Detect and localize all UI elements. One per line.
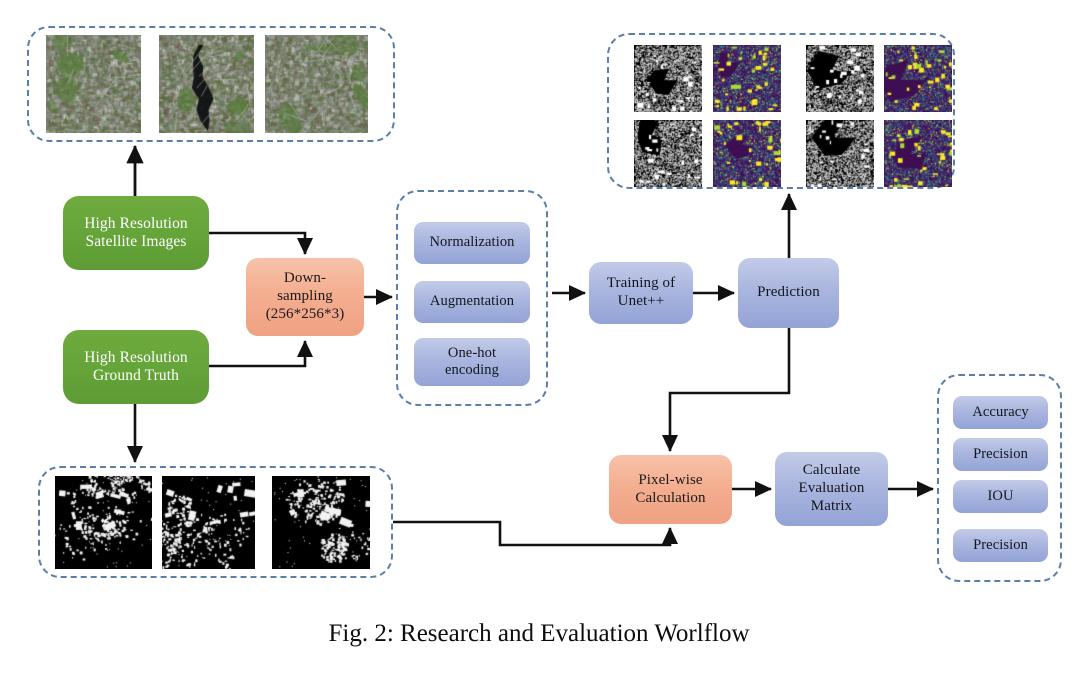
arrow-satellite-to-downsampling — [209, 233, 305, 254]
connector-arrows — [0, 0, 1078, 682]
arrow-prediction-to-pixelwise — [670, 328, 789, 451]
figure-research-evaluation-workflow: High Resolution Satellite Images High Re… — [0, 0, 1078, 682]
arrow-groundtruth-panel-to-pixelwise — [393, 522, 670, 545]
arrow-groundtruth-to-downsampling — [209, 341, 305, 366]
figure-caption: Fig. 2: Research and Evaluation Worlflow — [0, 620, 1078, 648]
